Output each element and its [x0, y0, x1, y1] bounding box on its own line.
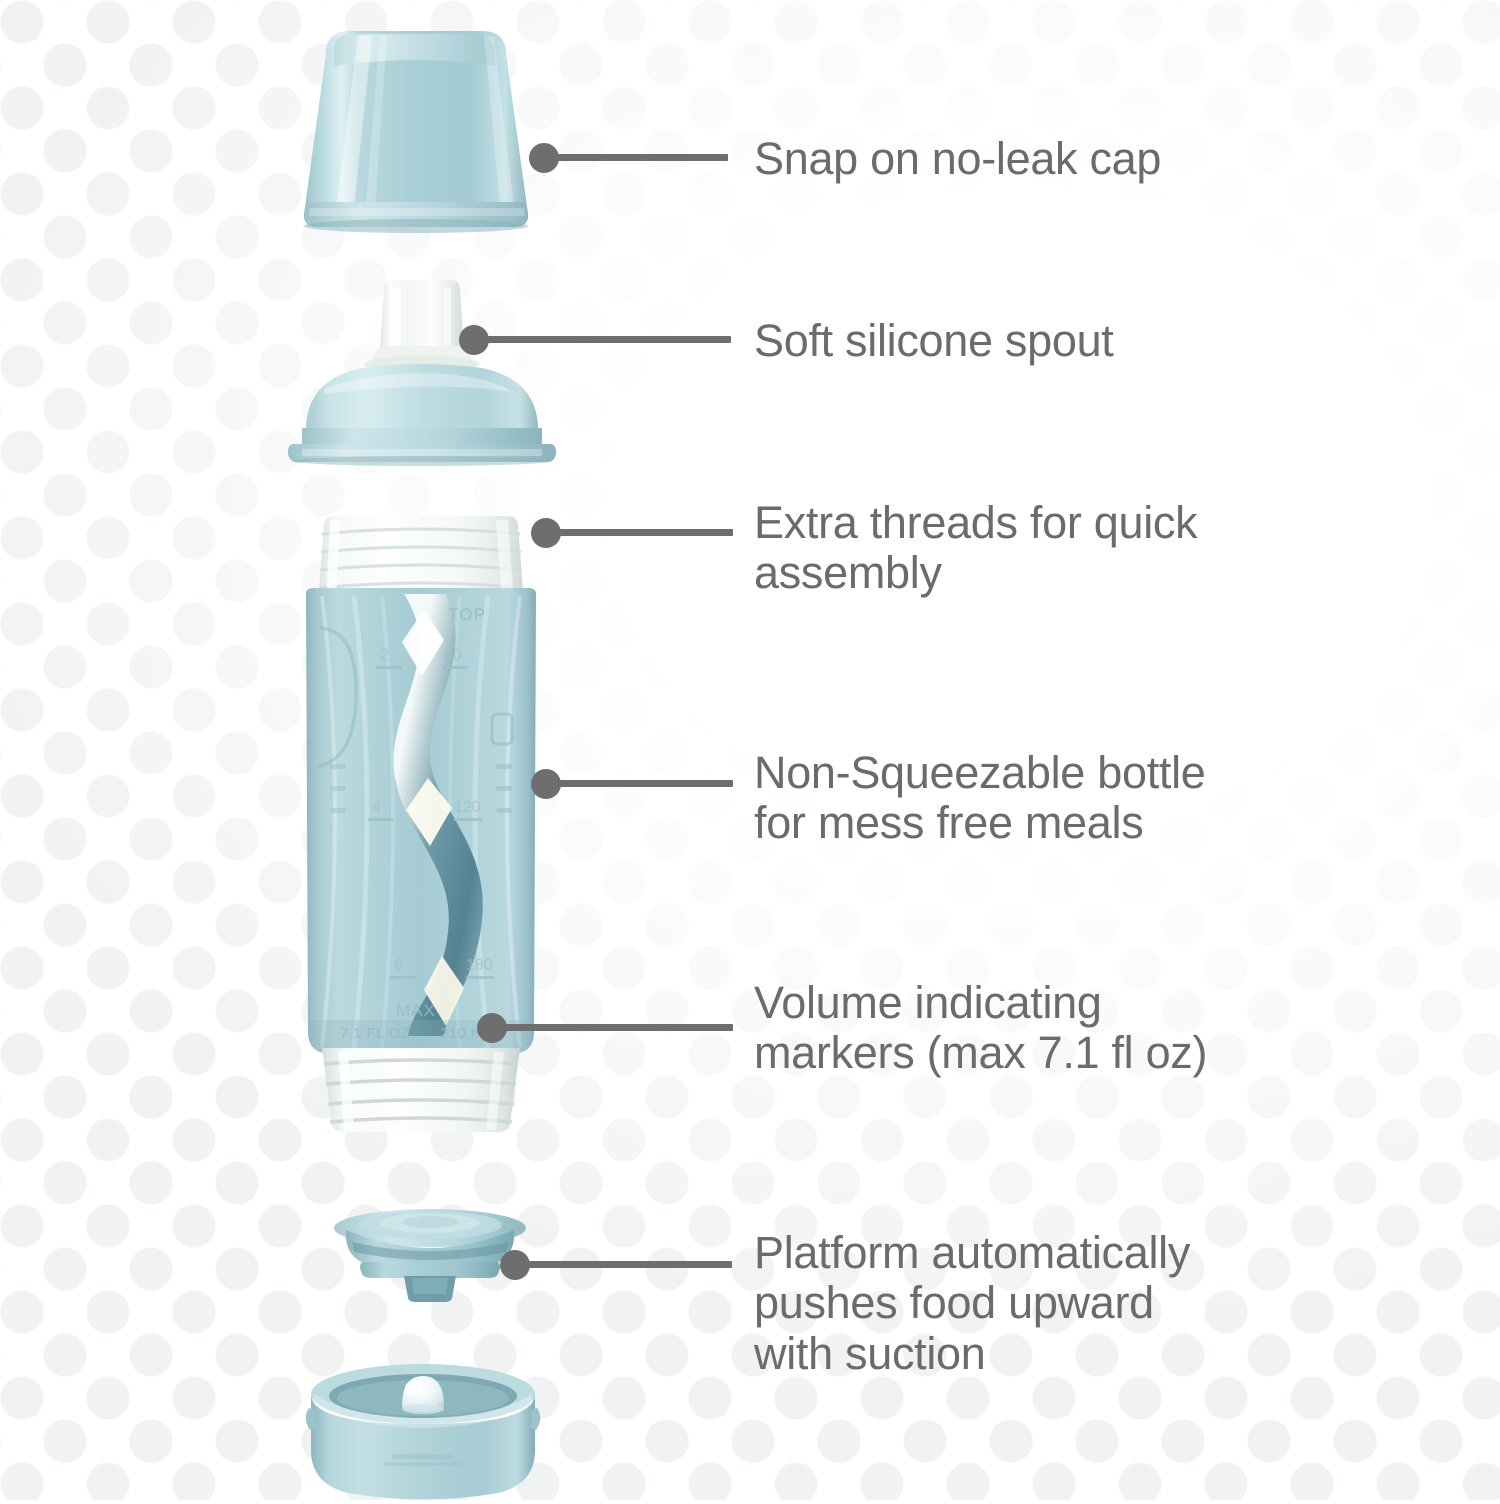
- svg-text:120: 120: [454, 799, 481, 816]
- connector-line: [555, 529, 733, 536]
- suction-platform: [330, 1206, 530, 1306]
- bottle-body: TOP 2 60 4 120 6 180 MAX 7.1 FL OZ 210 m…: [296, 508, 546, 1138]
- svg-text:60: 60: [444, 647, 462, 664]
- connector-line: [555, 780, 733, 787]
- silicone-spout-assembly: [286, 276, 570, 466]
- product-exploded-diagram: TOP 2 60 4 120 6 180 MAX 7.1 FL OZ 210 m…: [0, 0, 1500, 1500]
- svg-text:2: 2: [380, 647, 389, 664]
- callout-label-threads: Extra threads for quick assembly: [754, 498, 1197, 599]
- callout-label-platform: Platform automatically pushes food upwar…: [754, 1228, 1190, 1379]
- callout-label-volume: Volume indicating markers (max 7.1 fl oz…: [754, 978, 1207, 1079]
- callout-label-bottle: Non-Squeezable bottle for mess free meal…: [754, 748, 1206, 849]
- base-cap-with-valve: [306, 1354, 540, 1504]
- connector-line: [553, 154, 728, 161]
- svg-text:4: 4: [372, 799, 381, 816]
- callout-label-spout: Soft silicone spout: [754, 316, 1114, 366]
- connector-line: [501, 1024, 733, 1031]
- callout-label-cap: Snap on no-leak cap: [754, 134, 1161, 184]
- connector-line: [524, 1261, 732, 1268]
- bottle-max-text: MAX: [396, 1001, 436, 1020]
- snap-on-cap: [288, 26, 544, 234]
- svg-text:6: 6: [394, 957, 403, 974]
- connector-line: [483, 336, 731, 343]
- svg-text:180: 180: [466, 957, 493, 974]
- bottle-top-text: TOP: [448, 605, 486, 624]
